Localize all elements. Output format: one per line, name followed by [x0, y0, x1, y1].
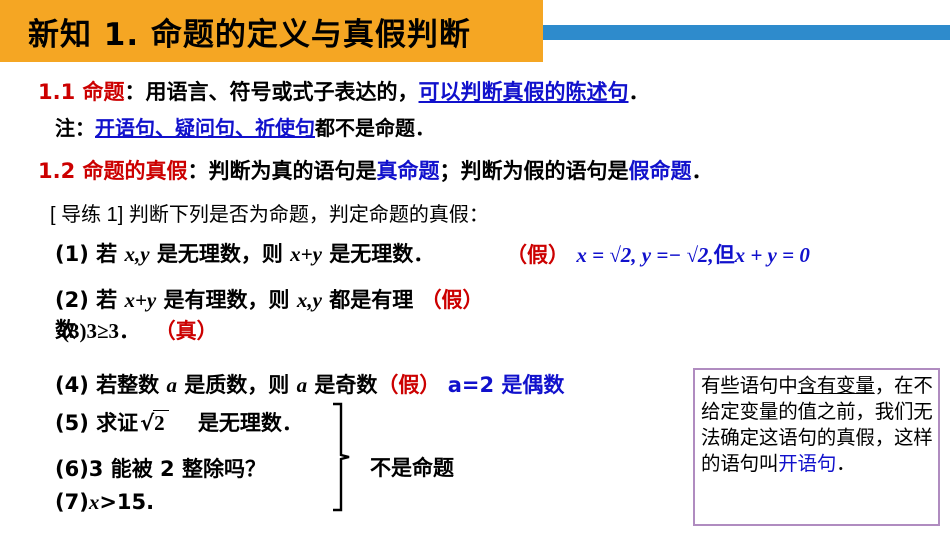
truth-line: 1.2 命题的真假：判断为真的语句是真命题；判断为假的语句是假命题．: [38, 155, 713, 185]
item-2-verdict: （假）: [421, 288, 484, 312]
item-1-reason-math: x = √2, y =− √2,: [576, 243, 713, 267]
note-suffix: 都不是命题．: [315, 116, 435, 140]
item-3-text: (3)3≥3．: [62, 319, 140, 343]
truth-part2: ；判断为假的语句是: [440, 159, 629, 183]
item-1-verdict: （假）: [506, 243, 569, 267]
item-1-reason-cn: 但: [714, 243, 735, 267]
item-1-pre: (1) 若: [55, 242, 124, 266]
page-title: 新知 1. 命题的定义与真假判断: [28, 9, 471, 54]
note-highlight: 开语句、疑问句、祈使句: [95, 116, 315, 140]
item-1-var2: x+y: [290, 242, 322, 266]
item-1-mid: 是无理数，则: [150, 242, 291, 266]
list-item: (4) 若整数 a 是质数，则 a 是奇数（假） a=2 是偶数: [55, 369, 564, 399]
list-item: (7)x>15.: [55, 490, 154, 515]
exercise-heading: [ 导练 1] 判断下列是否为命题，判定命题的真假：: [50, 198, 489, 227]
item-7-var1: x: [89, 490, 100, 514]
item-5-pre: (5) 求证: [55, 411, 138, 435]
open-sentence-term: 开语句: [778, 454, 836, 475]
definition-line: 1.1 命题：用语言、符号或式子表达的，可以判断真假的陈述句．: [38, 76, 650, 106]
note-box-line1b: ，: [875, 376, 894, 397]
note-box-line5a: 语句叫: [720, 454, 778, 475]
item-3-verdict: （真）: [155, 319, 218, 343]
item-7-post: >15.: [99, 490, 154, 514]
item-2-post: 都是有理: [322, 288, 413, 312]
definition-body: 用语言、符号或式子表达的，: [146, 80, 419, 104]
title-banner: 新知 1. 命题的定义与真假判断: [0, 0, 543, 62]
definition-colon: ：: [125, 80, 146, 104]
sqrt-icon: √2: [138, 411, 169, 436]
list-item: (3)3≥3． （真）: [62, 315, 218, 345]
item-7-pre: (7): [55, 490, 89, 514]
item-2-var2: x,y: [297, 288, 322, 312]
note-box-underlined: 含有变量: [798, 376, 875, 397]
list-item: (1) 若 x,y 是无理数，则 x+y 是无理数．: [55, 238, 434, 268]
item-2-pre: (2) 若: [55, 288, 124, 312]
item-4-post: 是奇数: [307, 373, 377, 397]
item-4-var2: a: [297, 373, 308, 397]
item-2-var1: x+y: [124, 288, 156, 312]
note-line: 注：开语句、疑问句、祈使句都不是命题．: [55, 112, 435, 141]
item-1-var1: x,y: [124, 242, 149, 266]
item-5-post: 是无理数．: [198, 411, 303, 435]
definition-highlight: 可以判断真假的陈述句: [419, 80, 629, 104]
item-1-reason-math2: x + y = 0: [735, 243, 810, 267]
true-proposition-label: 真命题: [377, 159, 440, 183]
item-4-reason: a=2 是偶数: [448, 373, 565, 397]
note-box-line1a: 有些语句中: [701, 376, 798, 397]
group-brace-icon: [330, 402, 352, 512]
note-prefix: 注：: [55, 116, 95, 140]
sqrt-radicand: 2: [153, 410, 169, 435]
group-brace-label: 不是命题: [370, 452, 454, 482]
open-sentence-note-text: 有些语句中含有变量，在不给定变量的值之前，我们无法确定这语句的真假，这样的语句叫…: [701, 374, 933, 478]
definition-period: ．: [629, 80, 650, 104]
item-4-mid: 是质数，则: [177, 373, 297, 397]
item-4-verdict: （假）: [377, 373, 440, 397]
truth-colon: ：: [188, 159, 209, 183]
definition-number: 1.1 命题: [38, 80, 125, 104]
false-proposition-label: 假命题: [629, 159, 692, 183]
item-2-mid: 是有理数，则: [156, 288, 297, 312]
item-1-post: 是无理数．: [322, 242, 434, 266]
list-item: (5) 求证√2 是无理数．: [55, 407, 303, 437]
item-1-annotation: （假） x = √2, y =− √2,但x + y = 0: [506, 239, 810, 269]
list-item: (2) 若 x+y 是有理数，则 x,y 都是有理 （假）: [55, 284, 484, 314]
open-sentence-note-box: 有些语句中含有变量，在不给定变量的值之前，我们无法确定这语句的真假，这样的语句叫…: [693, 368, 940, 526]
item-4-pre: (4) 若整数: [55, 373, 166, 397]
truth-period: ．: [692, 159, 713, 183]
list-item: (6)3 能被 2 整除吗？: [55, 453, 266, 483]
truth-number: 1.2 命题的真假: [38, 159, 188, 183]
item-4-var1: a: [166, 373, 177, 397]
truth-part1: 判断为真的语句是: [209, 159, 377, 183]
note-box-line5b: ．: [836, 454, 855, 475]
title-accent-bar: [543, 25, 950, 40]
